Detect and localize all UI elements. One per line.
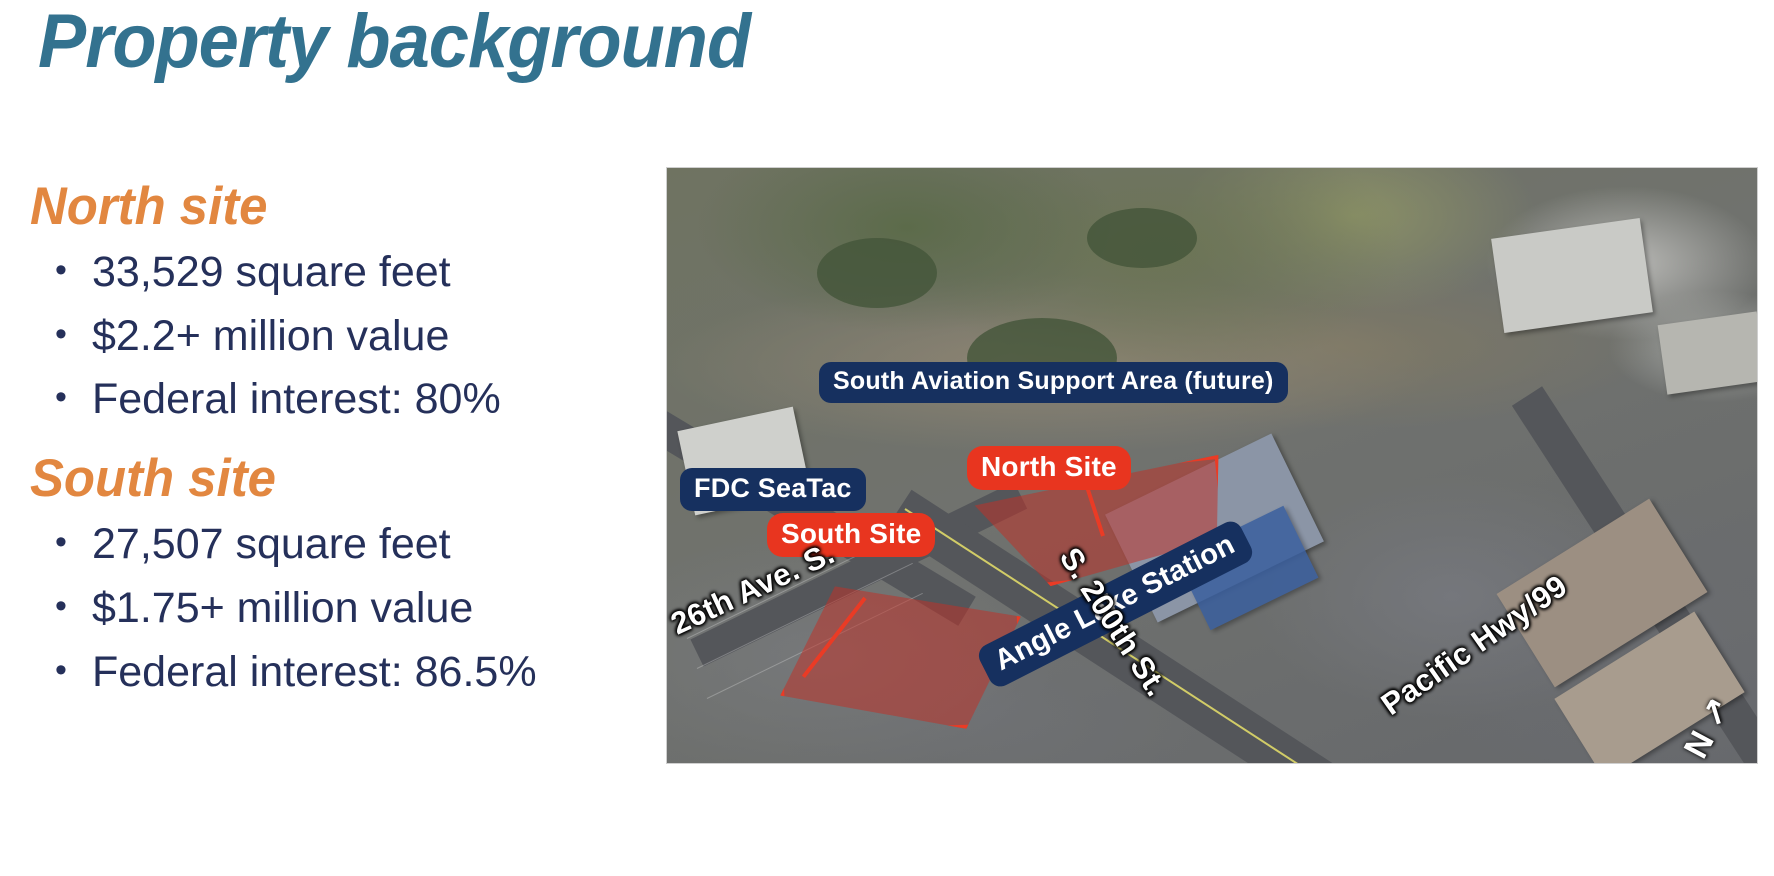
section-heading-south: South site [30, 450, 625, 507]
bullet-text: Federal interest: 80% [92, 368, 501, 432]
bullet-glyph-icon: • [30, 641, 92, 701]
slide: Property background North site • 33,529 … [0, 0, 1774, 876]
tree-cluster-3 [1087, 208, 1197, 268]
bullet-glyph-icon: • [30, 305, 92, 365]
aerial-photo: South Aviation Support Area (future) FDC… [666, 167, 1758, 764]
bullet-glyph-icon: • [30, 241, 92, 301]
bullet-text: 27,507 square feet [92, 513, 451, 577]
list-item: • 27,507 square feet [30, 513, 650, 577]
bullet-text: 33,529 square feet [92, 241, 451, 305]
bullet-glyph-icon: • [30, 513, 92, 573]
list-item: • $2.2+ million value [30, 305, 650, 369]
label-north-site: North Site [967, 446, 1131, 490]
label-south-aviation-support-area: South Aviation Support Area (future) [819, 362, 1288, 403]
content-column: North site • 33,529 square feet • $2.2+ … [30, 178, 650, 704]
tree-cluster-1 [817, 238, 937, 308]
list-item: • 33,529 square feet [30, 241, 650, 305]
bullet-glyph-icon: • [30, 368, 92, 428]
label-fdc-seatac: FDC SeaTac [680, 468, 866, 511]
bullet-list-south: • 27,507 square feet • $1.75+ million va… [30, 513, 650, 704]
bullet-text: $2.2+ million value [92, 305, 449, 369]
page-title: Property background [38, 2, 750, 82]
bullet-list-north: • 33,529 square feet • $2.2+ million val… [30, 241, 650, 432]
list-item: • Federal interest: 86.5% [30, 641, 650, 705]
bullet-glyph-icon: • [30, 577, 92, 637]
bullet-text: $1.75+ million value [92, 577, 473, 641]
bullet-text: Federal interest: 86.5% [92, 641, 537, 705]
building-industrial-east [1658, 311, 1758, 394]
section-heading-north: North site [30, 178, 625, 235]
list-item: • $1.75+ million value [30, 577, 650, 641]
list-item: • Federal interest: 80% [30, 368, 650, 432]
